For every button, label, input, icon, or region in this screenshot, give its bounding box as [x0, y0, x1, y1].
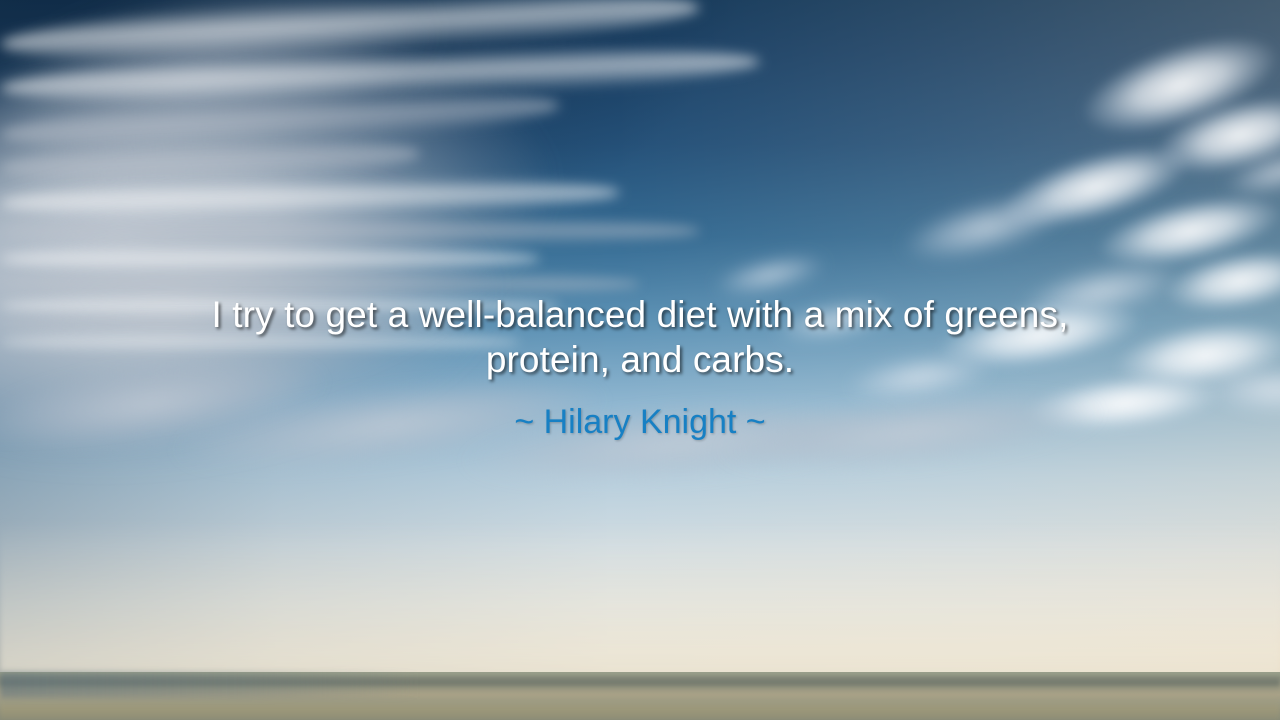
quote-text: I try to get a well-balanced diet with a…: [160, 292, 1120, 382]
cloud-streak-6: [0, 216, 700, 246]
distant-plain-cool-band: [0, 672, 420, 698]
cloud-puff-3: [974, 120, 1215, 255]
cloud-puff-4: [875, 172, 1094, 285]
cloud-streak-1: [0, 0, 701, 70]
cloud-streak-5: [0, 175, 620, 222]
cloud-mass-left: [0, 0, 727, 526]
cloud-streak-4: [0, 135, 421, 188]
quote-author: ~ Hilary Knight ~: [0, 402, 1280, 442]
quote-image: I try to get a well-balanced diet with a…: [0, 0, 1280, 720]
cloud-streak-3: [0, 83, 561, 156]
distant-plain-tan-band: [0, 698, 1280, 720]
quote-block: I try to get a well-balanced diet with a…: [0, 292, 1280, 442]
cloud-streak-2: [0, 39, 761, 111]
cloud-puff-2: [1134, 73, 1280, 197]
cloud-puff-15: [1207, 132, 1280, 213]
cloud-wisp-top-left: [0, 0, 517, 252]
cloud-streak-7: [0, 246, 540, 272]
cloud-puff-1: [1052, 5, 1280, 165]
cloud-puff-5: [1075, 174, 1280, 288]
